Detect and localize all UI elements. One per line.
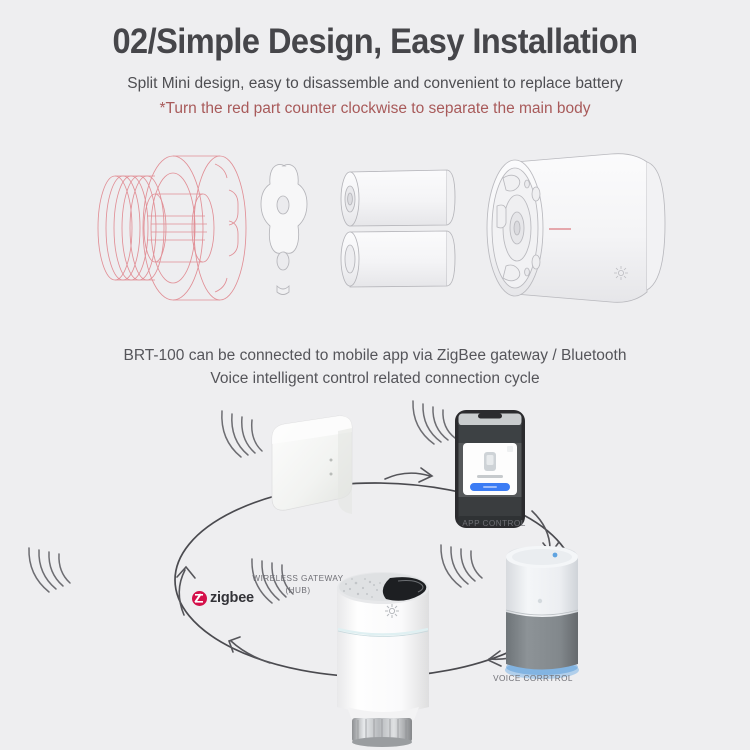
aa-battery-upper — [341, 170, 455, 226]
smart-speaker-device — [505, 546, 579, 679]
zigbee-mark-icon — [192, 591, 207, 606]
main-body-cylinder — [487, 154, 665, 303]
battery-contact-plate — [261, 164, 307, 294]
aa-battery-lower — [341, 231, 455, 287]
zigbee-logo: zigbee — [192, 590, 254, 606]
hub-led-1 — [330, 459, 333, 462]
signal-waves-gateway — [222, 411, 262, 457]
exploded-view-diagram — [55, 128, 705, 328]
connection-cycle-diagram — [0, 398, 750, 750]
signal-waves-speaker — [441, 545, 482, 587]
hub-led-2 — [330, 473, 333, 476]
connection-description: BRT-100 can be connected to mobile app v… — [0, 344, 750, 390]
page-title: 02/Simple Design, Easy Installation — [26, 0, 724, 62]
phone-device — [455, 410, 525, 528]
phone-dialog-label — [477, 475, 503, 478]
threaded-adapter-ring — [98, 156, 246, 300]
signal-waves-zigbee — [29, 548, 70, 592]
connection-line-1: BRT-100 can be connected to mobile app v… — [0, 344, 750, 367]
speaker-top-indicator — [553, 553, 558, 558]
product-infographic-page: 02/Simple Design, Easy Installation Spli… — [0, 0, 750, 750]
signal-waves-phone — [413, 401, 455, 444]
caption-app-control: APP CONTROL — [444, 519, 544, 528]
caption-wireless-gateway: WIRELESS GATEWAY — [243, 574, 353, 583]
zigbee-wordmark: zigbee — [210, 590, 254, 606]
header: 02/Simple Design, Easy Installation Spli… — [0, 0, 750, 118]
caption-voice-control: VOICE CORRTROL — [478, 674, 588, 683]
connection-line-2: Voice intelligent control related connec… — [0, 367, 750, 390]
caption-wireless-gateway-hub: (HUB) — [243, 586, 353, 595]
gateway-hub-device — [272, 416, 352, 514]
speaker-front-indicator — [538, 599, 542, 603]
instruction-note: *Turn the red part counter clockwise to … — [0, 93, 750, 118]
brt100-valve-device — [337, 572, 429, 747]
subtitle: Split Mini design, easy to disassemble a… — [0, 62, 750, 93]
